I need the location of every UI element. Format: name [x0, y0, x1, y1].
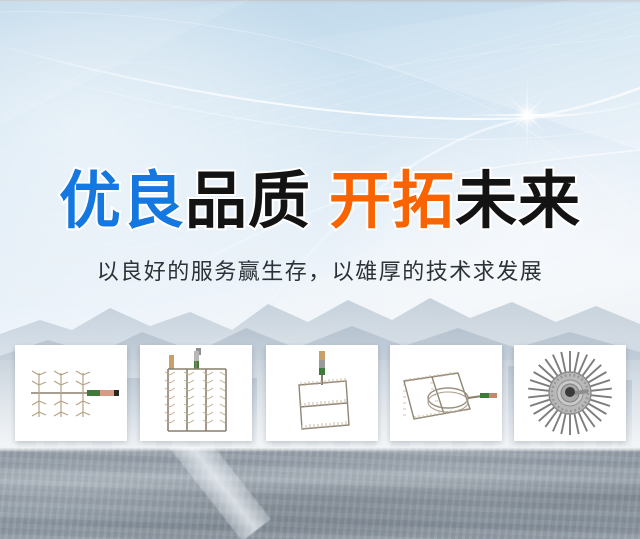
- ground-mottling: [0, 447, 640, 539]
- product-thumb-ring-frame-assembly: [390, 345, 502, 441]
- headline-segment-2: 品质: [185, 164, 311, 237]
- product-thumb-double-row-tine-frame: [140, 345, 252, 441]
- ground-horizon-highlight: [0, 447, 640, 452]
- product-thumb-comb-rake-tine-bar: [15, 345, 127, 441]
- promo-banner: 优良品质开拓未来 以良好的服务赢生存，以雄厚的技术求发展: [0, 0, 640, 539]
- headline-segment-1: 优良: [59, 164, 185, 237]
- product-thumb-rectangular-tine-panel: [266, 345, 378, 441]
- product-card-1[interactable]: [15, 345, 127, 441]
- product-card-4[interactable]: [390, 345, 502, 441]
- product-card-3[interactable]: [266, 345, 378, 441]
- headline-segment-4: 未来: [455, 164, 581, 237]
- product-card-5[interactable]: [514, 345, 626, 441]
- ground-surface: [0, 447, 640, 539]
- page-subtitle: 以良好的服务赢生存，以雄厚的技术求发展: [0, 258, 640, 288]
- product-card-strip: [0, 345, 640, 445]
- headline-segment-3: 开拓: [329, 164, 455, 237]
- product-thumb-radial-spoke-wheel: [514, 345, 626, 441]
- product-card-2[interactable]: [140, 345, 252, 441]
- page-title: 优良品质开拓未来: [0, 167, 640, 235]
